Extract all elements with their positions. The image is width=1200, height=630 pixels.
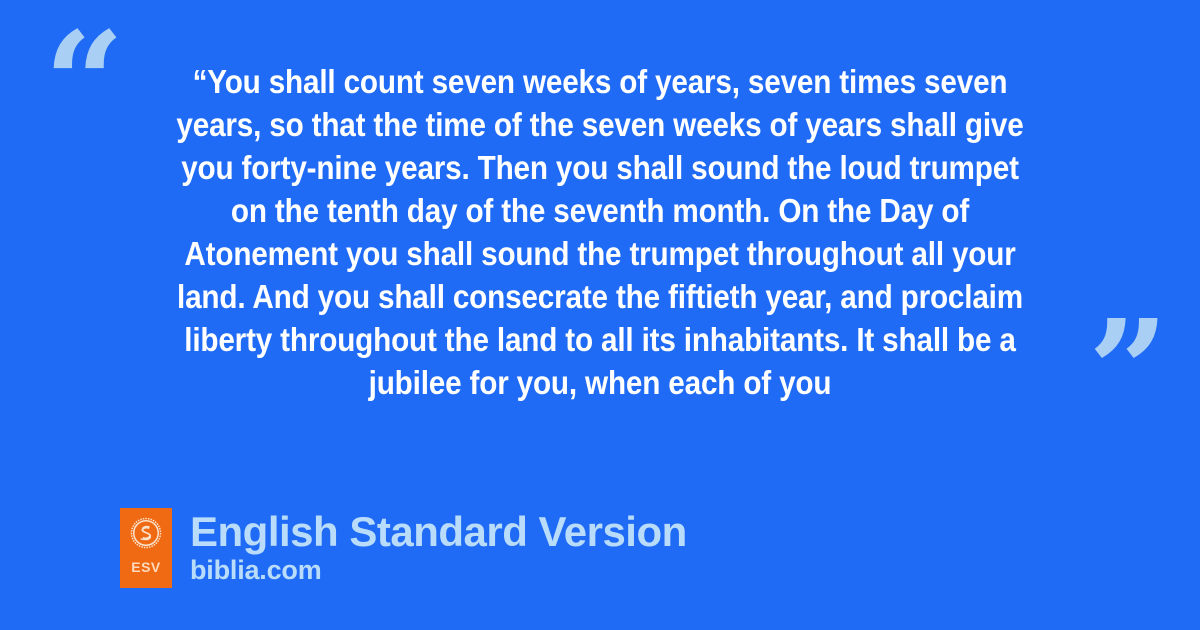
esv-logo: ESV: [120, 508, 172, 588]
quote-line: Atonement you shall sound the trumpet th…: [159, 232, 1041, 275]
footer-text-group: English Standard Version biblia.com: [190, 508, 687, 585]
quote-line: “You shall count seven weeks of years, s…: [159, 60, 1041, 103]
attribution-footer: ESV English Standard Version biblia.com: [120, 508, 687, 588]
quote-line: you forty-nine years. Then you shall sou…: [159, 146, 1041, 189]
quote-line: jubilee for you, when each of you: [159, 361, 1041, 404]
quote-line: liberty throughout the land to all its i…: [159, 318, 1041, 361]
quote-text: “You shall count seven weeks of years, s…: [110, 60, 1090, 404]
quote-line: land. And you shall consecrate the fifti…: [159, 275, 1041, 318]
quote-line: on the tenth day of the seventh month. O…: [159, 189, 1041, 232]
esv-logo-label: ESV: [131, 560, 161, 574]
site-url[interactable]: biblia.com: [190, 555, 687, 585]
quote-line: years, so that the time of the seven wee…: [159, 103, 1041, 146]
close-quote-icon: ”: [1088, 302, 1167, 442]
bible-version-name: English Standard Version: [190, 510, 687, 554]
esv-seal-icon: [130, 517, 162, 549]
quote-card: “ “You shall count seven weeks of years,…: [0, 0, 1200, 630]
